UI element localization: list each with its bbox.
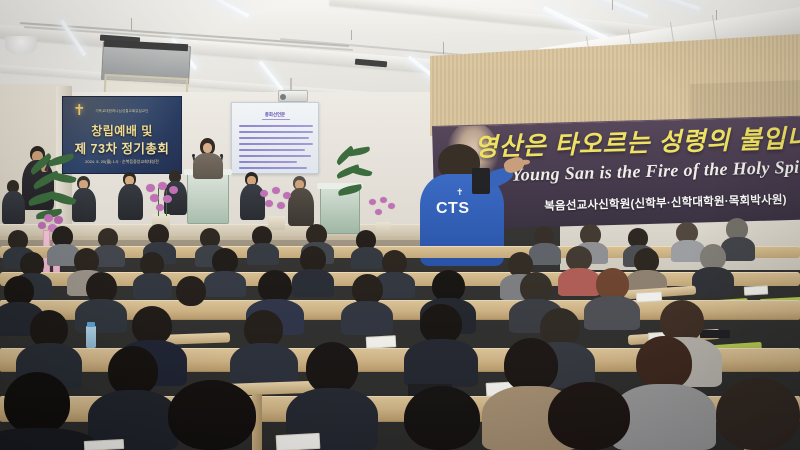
video-camera: [472, 168, 490, 194]
plant-leaf: [337, 184, 362, 196]
plant-leaf: [49, 171, 76, 186]
banner-organization-line: 기독교대한하나님성결교회유딥교단: [63, 108, 181, 113]
banner-subtitle: 복음선교사신학원(신학부·신학대학원·목회박사원): [544, 191, 787, 214]
banner-date-line: 2024. 5. 20(월) 1시 · 순복음중앙교회대성전: [63, 159, 181, 165]
stand-bloom: [54, 216, 63, 224]
audience-body: [404, 339, 478, 387]
orchid-bloom: [369, 199, 376, 205]
screen-text-line: [239, 155, 311, 157]
audience-body: [351, 247, 383, 269]
dome-ceiling-light: [5, 36, 37, 55]
audience-head: [404, 386, 480, 450]
printed-program: [744, 285, 768, 295]
stand-bloom: [38, 222, 46, 229]
plant-leaf: [47, 189, 76, 208]
screen-text-line: [239, 131, 313, 133]
bible-book: [700, 330, 730, 338]
orchid-bloom: [388, 203, 395, 209]
printed-program: [366, 335, 397, 349]
audience-head: [4, 372, 70, 434]
audience-body: [247, 243, 279, 265]
audience-body: [529, 243, 561, 265]
audience-head: [420, 304, 462, 344]
audience-body: [584, 296, 640, 330]
audience-body: [204, 271, 246, 297]
orchid-bloom: [163, 195, 172, 203]
hanging-wire-2: [351, 30, 352, 40]
hanging-wire-3: [443, 42, 444, 54]
orchid-pot: [268, 216, 285, 230]
cts-cameraman: ✝ CTS: [416, 144, 528, 262]
podium: [187, 172, 229, 224]
microphone-head-right: [220, 154, 223, 157]
audience-body: [292, 269, 334, 297]
screen-text-line: [239, 125, 313, 127]
orchid-arrangement-right: [256, 186, 300, 230]
audience-head: [168, 380, 256, 450]
hanging-wire-1: [131, 18, 132, 30]
microphone-head-left: [192, 154, 195, 157]
orchid-bloom: [375, 209, 382, 215]
orchid-bloom: [380, 197, 387, 203]
speaker-torso: [193, 153, 223, 179]
photo-scene: ✝ 기독교대한하나님성결교회유딥교단 창립예배 및 제 73차 정기총회 202…: [0, 0, 800, 450]
orchid-bloom: [150, 194, 159, 202]
orchid-stem: [166, 190, 167, 216]
orchid-arrangement-center: [138, 182, 184, 230]
audience-head: [306, 342, 358, 394]
printed-program: [276, 433, 321, 450]
audience-head: [636, 336, 692, 390]
orchid-bloom: [265, 200, 273, 207]
screen-text-line: [239, 167, 307, 169]
orchid-bloom: [169, 186, 178, 194]
bottle-cap: [87, 322, 95, 327]
cts-logo-cross-icon: ✝: [456, 188, 464, 197]
screen-text-line: [239, 143, 313, 145]
orchid-bloom: [158, 182, 167, 190]
screen-text-line: [239, 137, 309, 139]
audience-body: [133, 273, 172, 299]
audience-body: [692, 267, 734, 295]
projector-lens: [280, 94, 286, 100]
presentation-screen: 총회선언문: [231, 102, 319, 174]
water-bottle: [86, 326, 96, 348]
stand-bloom: [44, 214, 53, 222]
navy-ceremony-banner: ✝ 기독교대한하나님성결교회유딥교단 창립예배 및 제 73차 정기총회 202…: [62, 96, 182, 174]
orchid-bloom: [272, 187, 280, 194]
screen-title: 총회선언문: [232, 112, 318, 118]
banner-title-line-2: 제 73차 정기총회: [63, 138, 181, 157]
audience-body: [341, 301, 393, 335]
audience-body: [166, 302, 216, 336]
orchid-arrangement-pulpit: [366, 196, 402, 236]
speaker-face: [203, 143, 212, 153]
audience-body: [721, 237, 755, 261]
hanging-wire-6: [612, 0, 613, 10]
orchid-stem: [158, 188, 159, 216]
orchid-bloom: [283, 192, 291, 199]
orchid-bloom: [156, 204, 164, 211]
orchid-bloom: [146, 184, 155, 192]
banner-title-line-1: 창립예배 및: [63, 122, 181, 139]
screen-text-line: [239, 149, 305, 151]
audience-head: [716, 378, 800, 450]
cts-shirt-text: CTS: [436, 200, 470, 218]
audience-head: [108, 346, 158, 396]
audience-body: [75, 299, 127, 333]
audience-body: [558, 268, 600, 296]
audience-head: [504, 338, 558, 392]
audience-head: [548, 382, 630, 450]
plant-leaf: [348, 164, 373, 178]
printed-program: [636, 291, 662, 302]
printed-program: [84, 439, 124, 450]
screen-text-line: [239, 161, 297, 163]
screen-title-underline: [262, 119, 290, 120]
official-torso: [2, 191, 25, 224]
orchid-pot: [376, 222, 391, 235]
orchid-bloom: [260, 190, 268, 197]
orchid-bloom: [277, 202, 285, 209]
